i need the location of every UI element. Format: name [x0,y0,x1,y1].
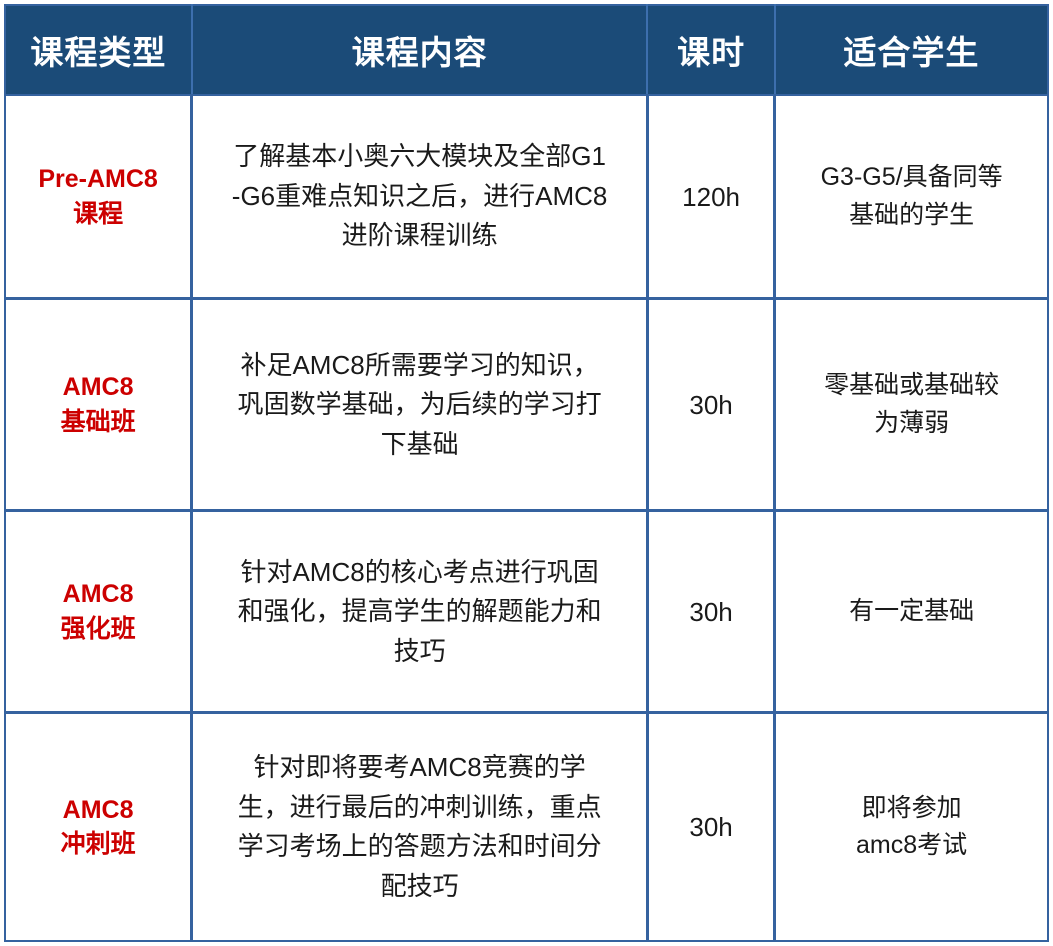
course-hours-cell: 30h [647,299,774,511]
course-type-name-cn: 强化班 [16,612,180,647]
course-hours-cell: 30h [647,511,774,713]
target-students-cell: 即将参加 amc8考试 [775,713,1048,941]
target-students-line-1: 有一定基础 [794,593,1029,631]
course-content-cell: 了解基本小奥六大模块及全部G1-G6重难点知识之后，进行AMC8进阶课程训练 [192,95,648,299]
course-content-cell: 补足AMC8所需要学习的知识，巩固数学基础，为后续的学习打下基础 [192,299,648,511]
course-type-name-cn: 课程 [16,197,180,232]
course-content-text: 针对即将要考AMC8竞赛的学生，进行最后的冲刺训练，重点学习考场上的答题方法和时… [231,748,608,906]
target-students-cell: G3-G5/具备同等 基础的学生 [775,95,1048,299]
course-content-text: 了解基本小奥六大模块及全部G1-G6重难点知识之后，进行AMC8进阶课程训练 [231,137,608,256]
column-header-course-content: 课程内容 [192,5,648,95]
course-content-text: 针对AMC8的核心考点进行巩固和强化，提高学生的解题能力和技巧 [231,553,608,672]
course-type-name-cn: 冲刺班 [16,827,180,862]
target-students-line-1: 即将参加 [794,790,1029,828]
course-type-cell: AMC8 基础班 [5,299,192,511]
course-type-cell: AMC8 强化班 [5,511,192,713]
target-students-cell: 零基础或基础较 为薄弱 [775,299,1048,511]
course-content-cell: 针对即将要考AMC8竞赛的学生，进行最后的冲刺训练，重点学习考场上的答题方法和时… [192,713,648,941]
course-type-name-en: AMC8 [16,793,180,828]
table-row: Pre-AMC8 课程 了解基本小奥六大模块及全部G1-G6重难点知识之后，进行… [5,95,1048,299]
target-students-line-1: 零基础或基础较 [794,367,1029,405]
header-row: 课程类型 课程内容 课时 适合学生 [5,5,1048,95]
course-comparison-table: 课程类型 课程内容 课时 适合学生 Pre-AMC8 课程 了解基本小奥六大模块… [4,4,1049,942]
course-hours-cell: 120h [647,95,774,299]
course-table-container: 课程类型 课程内容 课时 适合学生 Pre-AMC8 课程 了解基本小奥六大模块… [0,0,1053,946]
target-students-line-1: G3-G5/具备同等 [794,159,1029,197]
course-type-name-cn: 基础班 [16,405,180,440]
column-header-target-students: 适合学生 [775,5,1048,95]
table-row: AMC8 基础班 补足AMC8所需要学习的知识，巩固数学基础，为后续的学习打下基… [5,299,1048,511]
table-row: AMC8 冲刺班 针对即将要考AMC8竞赛的学生，进行最后的冲刺训练，重点学习考… [5,713,1048,941]
column-header-course-type: 课程类型 [5,5,192,95]
target-students-line-2: 为薄弱 [794,405,1029,443]
course-hours-cell: 30h [647,713,774,941]
target-students-line-2: amc8考试 [794,827,1029,865]
table-body: Pre-AMC8 课程 了解基本小奥六大模块及全部G1-G6重难点知识之后，进行… [5,95,1048,941]
target-students-line-2: 基础的学生 [794,197,1029,235]
course-type-name-en: AMC8 [16,577,180,612]
course-type-name-en: Pre-AMC8 [16,162,180,197]
table-row: AMC8 强化班 针对AMC8的核心考点进行巩固和强化，提高学生的解题能力和技巧… [5,511,1048,713]
column-header-course-hours: 课时 [647,5,774,95]
target-students-cell: 有一定基础 [775,511,1048,713]
course-type-cell: Pre-AMC8 课程 [5,95,192,299]
course-type-name-en: AMC8 [16,370,180,405]
course-content-cell: 针对AMC8的核心考点进行巩固和强化，提高学生的解题能力和技巧 [192,511,648,713]
table-header: 课程类型 课程内容 课时 适合学生 [5,5,1048,95]
course-content-text: 补足AMC8所需要学习的知识，巩固数学基础，为后续的学习打下基础 [231,346,608,465]
course-type-cell: AMC8 冲刺班 [5,713,192,941]
